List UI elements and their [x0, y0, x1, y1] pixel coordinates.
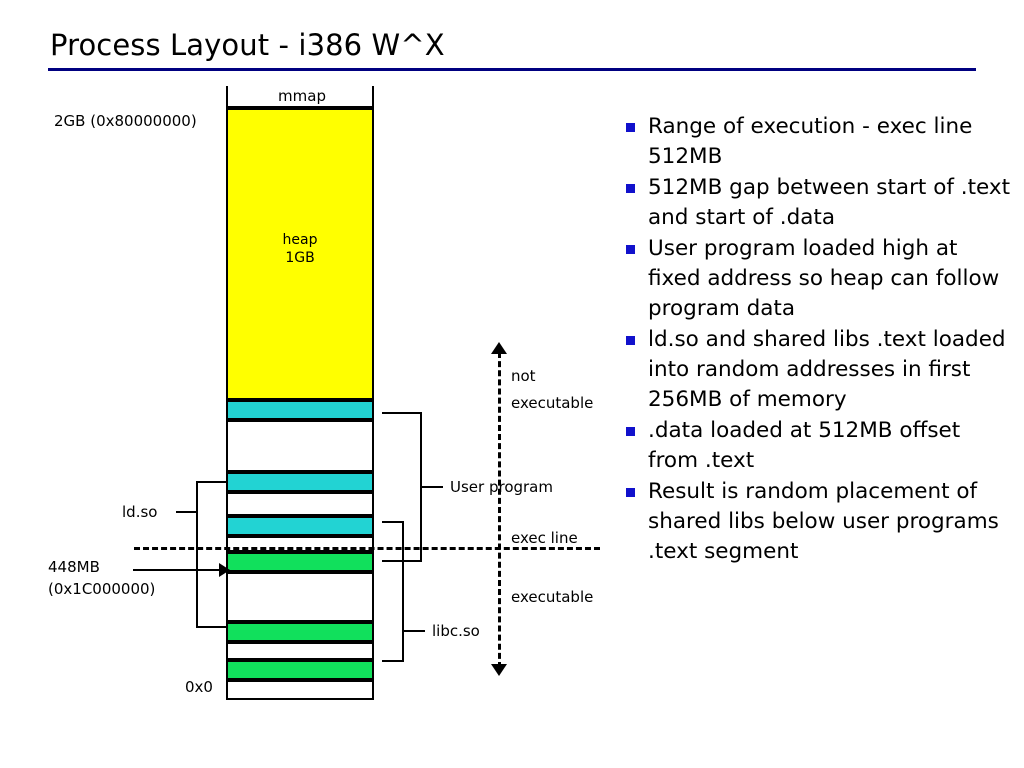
bullet-text: ld.so and shared libs .text loaded into … [648, 327, 1006, 412]
address-label-448mb: 448MB [48, 558, 100, 576]
libc-bracket-tick [403, 630, 425, 632]
libc-bracket [382, 521, 404, 662]
memory-block-text-segment-1 [226, 552, 374, 572]
address-label-448mb-hex: (0x1C000000) [48, 580, 155, 598]
memory-block-gap-6 [226, 680, 374, 700]
bullet-text: Range of execution - exec line 512MB [648, 114, 972, 169]
memory-block-gap-5 [226, 642, 374, 660]
memory-block-gap-2 [226, 492, 374, 516]
not-executable-label-line1: not [511, 367, 536, 385]
bullet-item: User program loaded high at fixed addres… [624, 234, 1016, 324]
bullet-item: Result is random placement of shared lib… [624, 477, 1016, 567]
bullet-square-icon [626, 245, 635, 254]
user-program-bracket-tick [421, 486, 443, 488]
memory-block-column [226, 86, 374, 700]
not-executable-label-line2: executable [511, 394, 593, 412]
address-label-2gb: 2GB (0x80000000) [54, 112, 197, 130]
memory-block-text-segment-2 [226, 622, 374, 642]
memory-block-data-segment-3 [226, 516, 374, 536]
bullet-text: 512MB gap between start of .text and sta… [648, 175, 1010, 230]
exec-line-label: exec line [511, 529, 578, 547]
bullet-square-icon [626, 123, 635, 132]
exec-line-rule [134, 547, 600, 550]
bullet-item: Range of execution - exec line 512MB [624, 112, 1016, 172]
bullet-list: Range of execution - exec line 512MB512M… [624, 112, 1016, 568]
bullet-square-icon [626, 184, 635, 193]
user-program-label: User program [450, 478, 553, 496]
bullet-text: User program loaded high at fixed addres… [648, 236, 999, 321]
memory-block-text-segment-3 [226, 660, 374, 680]
bullet-square-icon [626, 336, 635, 345]
axis-arrow-down-icon [491, 664, 507, 676]
bullet-square-icon [626, 488, 635, 497]
bullet-item: ld.so and shared libs .text loaded into … [624, 325, 1016, 415]
executability-axis-line [498, 352, 501, 668]
bullet-item: .data loaded at 512MB offset from .text [624, 416, 1016, 476]
executable-label: executable [511, 588, 593, 606]
bullet-square-icon [626, 427, 635, 436]
memory-block-heap [226, 108, 374, 400]
bullet-item: 512MB gap between start of .text and sta… [624, 173, 1016, 233]
address-label-zero: 0x0 [185, 678, 213, 696]
axis-arrow-up-icon [491, 342, 507, 354]
bullet-text: Result is random placement of shared lib… [648, 479, 999, 564]
ldso-bracket-tick [176, 511, 197, 513]
memory-block-data-segment-2 [226, 472, 374, 492]
process-memory-layout-diagram: mmap heap 1GB 2GB (0x80000000) 448MB (0x… [0, 0, 640, 768]
ldso-label: ld.so [122, 503, 157, 521]
memory-block-gap-1 [226, 420, 374, 472]
bullet-text: .data loaded at 512MB offset from .text [648, 418, 960, 473]
ldso-bracket [196, 481, 226, 628]
memory-block-data-segment-1 [226, 400, 374, 420]
memory-block-gap-4 [226, 572, 374, 622]
libc-label: libc.so [432, 622, 480, 640]
